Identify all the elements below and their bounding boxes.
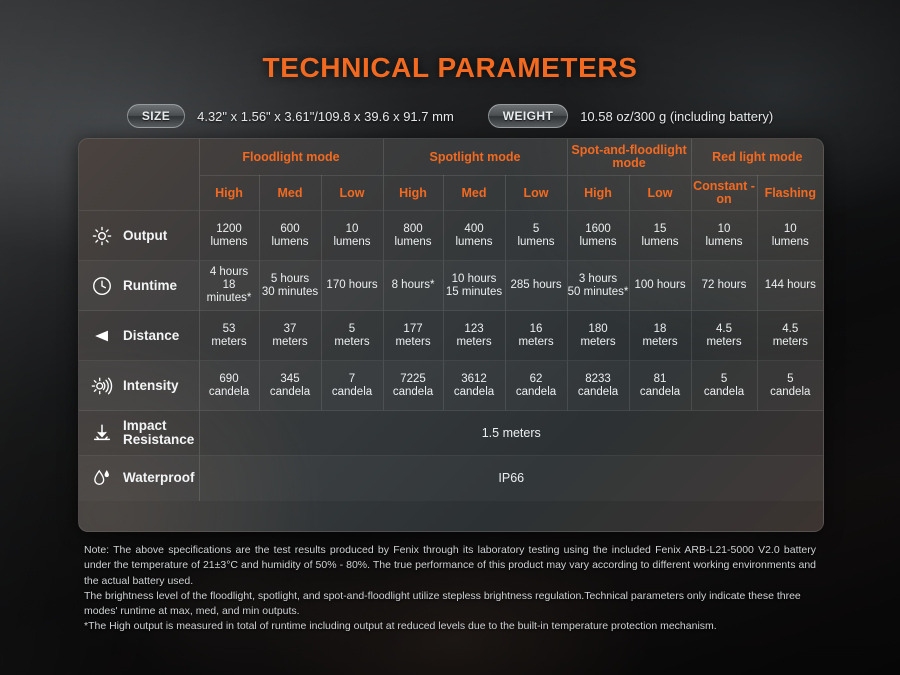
- cell-output-8: 10lumens: [691, 211, 757, 261]
- page-title: TECHNICAL PARAMETERS: [0, 52, 900, 84]
- cell-value: 690: [200, 373, 259, 386]
- row-label-output: Output: [79, 211, 199, 261]
- cell-runtime-6: 3 hours50 minutes*: [567, 261, 629, 311]
- cell-value: 16: [506, 323, 567, 336]
- cell-unit: meters: [444, 336, 505, 349]
- beam-icon: [89, 323, 115, 349]
- cell-value: 37: [260, 323, 321, 336]
- cell-intensity-3: 7225candela: [383, 361, 443, 411]
- parameters-table: Floodlight mode Spotlight mode Spot-and-…: [79, 139, 823, 501]
- cell-value: 177: [384, 323, 443, 336]
- cell-runtime-8: 72 hours: [691, 261, 757, 311]
- row-label-impact-resistance: Impact Resistance: [79, 411, 199, 456]
- cell-intensity-0: 690candela: [199, 361, 259, 411]
- cell-output-0: 1200lumens: [199, 211, 259, 261]
- cell-value: 345: [260, 373, 321, 386]
- table-body: Output 1200lumens 600lumens 10lumens 800…: [79, 211, 823, 501]
- cell-unit: meters: [200, 336, 259, 349]
- value-waterproof: IP66: [199, 456, 823, 501]
- cell-output-6: 1600lumens: [567, 211, 629, 261]
- cell-value: 72 hours: [692, 279, 757, 292]
- cell-unit: candela: [444, 386, 505, 399]
- cell-intensity-4: 3612candela: [443, 361, 505, 411]
- cell-value: 53: [200, 323, 259, 336]
- header-corner-cell: [79, 139, 199, 176]
- cell-output-1: 600lumens: [259, 211, 321, 261]
- cell-unit: 15 minutes: [444, 286, 505, 299]
- cell-value: 8233: [568, 373, 629, 386]
- waterdrop-icon: [89, 465, 115, 491]
- row-label-output-text: Output: [123, 229, 167, 243]
- cell-intensity-7: 81candela: [629, 361, 691, 411]
- cell-runtime-1: 5 hours30 minutes: [259, 261, 321, 311]
- cell-output-3: 800lumens: [383, 211, 443, 261]
- cell-unit: meters: [758, 336, 824, 349]
- mode-group-spot-and-floodlight: Spot-and-floodlight mode: [567, 139, 691, 176]
- impact-label-line1: Impact: [123, 419, 194, 433]
- cell-value: 5: [692, 373, 757, 386]
- cell-value: 285 hours: [506, 279, 567, 292]
- level-red-flashing: Flashing: [757, 176, 823, 211]
- size-badge: SIZE: [127, 104, 185, 128]
- footnote-line-3: *The High output is measured in total of…: [84, 619, 816, 634]
- cell-unit: lumens: [260, 236, 321, 249]
- cell-distance-1: 37meters: [259, 311, 321, 361]
- technical-parameters-table-panel: Floodlight mode Spotlight mode Spot-and-…: [78, 138, 824, 532]
- impact-label-line2: Resistance: [123, 433, 194, 447]
- cell-intensity-5: 62candela: [505, 361, 567, 411]
- cell-unit: lumens: [758, 236, 824, 249]
- cell-value: 4.5: [758, 323, 824, 336]
- cell-runtime-7: 100 hours: [629, 261, 691, 311]
- cell-intensity-9: 5candela: [757, 361, 823, 411]
- cell-value: 170 hours: [322, 279, 383, 292]
- weight-value: 10.58 oz/300 g (including battery): [580, 109, 773, 124]
- cell-unit: meters: [322, 336, 383, 349]
- cell-runtime-3: 8 hours*: [383, 261, 443, 311]
- cell-unit: candela: [384, 386, 443, 399]
- cell-value: 8 hours*: [384, 279, 443, 292]
- cell-output-5: 5lumens: [505, 211, 567, 261]
- mode-group-floodlight: Floodlight mode: [199, 139, 383, 176]
- cell-unit: meters: [384, 336, 443, 349]
- cell-unit: 50 minutes*: [568, 286, 629, 299]
- cell-value: 5: [322, 323, 383, 336]
- footnote-line-2: The brightness level of the floodlight, …: [84, 589, 816, 620]
- cell-value: 15: [630, 223, 691, 236]
- table-row-runtime: Runtime 4 hours18 minutes* 5 hours30 min…: [79, 261, 823, 311]
- cell-distance-7: 18meters: [629, 311, 691, 361]
- cell-unit: lumens: [200, 236, 259, 249]
- level-red-constant-on: Constant -on: [691, 176, 757, 211]
- level-flood-high: High: [199, 176, 259, 211]
- cell-unit: lumens: [506, 236, 567, 249]
- cell-unit: lumens: [322, 236, 383, 249]
- sun-icon: [89, 223, 115, 249]
- cell-output-9: 10lumens: [757, 211, 823, 261]
- cell-value: 5: [758, 373, 824, 386]
- level-spot-high: High: [383, 176, 443, 211]
- intensity-icon: [89, 373, 115, 399]
- cell-unit: meters: [692, 336, 757, 349]
- cell-intensity-2: 7candela: [321, 361, 383, 411]
- size-value: 4.32" x 1.56" x 3.61"/109.8 x 39.6 x 91.…: [197, 109, 454, 124]
- cell-unit: candela: [506, 386, 567, 399]
- cell-runtime-0: 4 hours18 minutes*: [199, 261, 259, 311]
- footnotes: Note: The above specifications are the t…: [84, 543, 816, 635]
- cell-intensity-8: 5candela: [691, 361, 757, 411]
- cell-value: 144 hours: [758, 279, 824, 292]
- footnote-line-1: Note: The above specifications are the t…: [84, 543, 816, 589]
- clock-icon: [89, 273, 115, 299]
- size-weight-strip: SIZE 4.32" x 1.56" x 3.61"/109.8 x 39.6 …: [0, 103, 900, 129]
- cell-value: 81: [630, 373, 691, 386]
- cell-value: 5 hours: [260, 273, 321, 286]
- row-label-distance-text: Distance: [123, 329, 179, 343]
- cell-distance-9: 4.5meters: [757, 311, 823, 361]
- cell-runtime-4: 10 hours15 minutes: [443, 261, 505, 311]
- table-row-distance: Distance 53meters 37meters 5meters 177me…: [79, 311, 823, 361]
- row-label-runtime: Runtime: [79, 261, 199, 311]
- cell-unit: meters: [260, 336, 321, 349]
- cell-unit: meters: [630, 336, 691, 349]
- cell-unit: candela: [692, 386, 757, 399]
- cell-value: 10: [692, 223, 757, 236]
- table-row-output: Output 1200lumens 600lumens 10lumens 800…: [79, 211, 823, 261]
- mode-group-red-light: Red light mode: [691, 139, 823, 176]
- cell-unit: meters: [568, 336, 629, 349]
- cell-distance-6: 180meters: [567, 311, 629, 361]
- cell-value: 800: [384, 223, 443, 236]
- cell-distance-0: 53meters: [199, 311, 259, 361]
- cell-distance-3: 177meters: [383, 311, 443, 361]
- cell-unit: lumens: [384, 236, 443, 249]
- cell-value: 4 hours: [200, 266, 259, 279]
- impact-icon: [89, 420, 115, 446]
- level-flood-med: Med: [259, 176, 321, 211]
- row-label-intensity-text: Intensity: [123, 379, 179, 393]
- cell-unit: candela: [200, 386, 259, 399]
- cell-distance-5: 16meters: [505, 311, 567, 361]
- cell-value: 4.5: [692, 323, 757, 336]
- table-row-intensity: Intensity 690candela 345candela 7candela…: [79, 361, 823, 411]
- cell-value: 62: [506, 373, 567, 386]
- level-flood-low: Low: [321, 176, 383, 211]
- cell-unit: lumens: [692, 236, 757, 249]
- cell-unit: candela: [260, 386, 321, 399]
- value-impact-resistance: 1.5 meters: [199, 411, 823, 456]
- cell-value: 18: [630, 323, 691, 336]
- mode-group-spotlight: Spotlight mode: [383, 139, 567, 176]
- level-spot-med: Med: [443, 176, 505, 211]
- row-label-impact-text: Impact Resistance: [123, 419, 194, 447]
- cell-value: 1200: [200, 223, 259, 236]
- row-label-distance: Distance: [79, 311, 199, 361]
- cell-output-4: 400lumens: [443, 211, 505, 261]
- cell-unit: lumens: [568, 236, 629, 249]
- cell-value: 3 hours: [568, 273, 629, 286]
- cell-value: 400: [444, 223, 505, 236]
- cell-value: 7225: [384, 373, 443, 386]
- cell-unit: 30 minutes: [260, 286, 321, 299]
- cell-unit: candela: [630, 386, 691, 399]
- table-row-impact-resistance: Impact Resistance 1.5 meters: [79, 411, 823, 456]
- row-label-waterproof: Waterproof: [79, 456, 199, 501]
- cell-unit: candela: [322, 386, 383, 399]
- mode-group-header-row: Floodlight mode Spotlight mode Spot-and-…: [79, 139, 823, 176]
- level-combo-low: Low: [629, 176, 691, 211]
- cell-runtime-2: 170 hours: [321, 261, 383, 311]
- cell-value: 600: [260, 223, 321, 236]
- cell-unit: meters: [506, 336, 567, 349]
- cell-intensity-6: 8233candela: [567, 361, 629, 411]
- cell-unit: 18 minutes*: [200, 279, 259, 305]
- cell-value: 5: [506, 223, 567, 236]
- cell-intensity-1: 345candela: [259, 361, 321, 411]
- row-label-runtime-text: Runtime: [123, 279, 177, 293]
- cell-value: 10: [758, 223, 824, 236]
- cell-unit: candela: [568, 386, 629, 399]
- cell-value: 100 hours: [630, 279, 691, 292]
- level-header-row: High Med Low High Med Low High Low Const…: [79, 176, 823, 211]
- cell-unit: lumens: [630, 236, 691, 249]
- cell-distance-4: 123meters: [443, 311, 505, 361]
- cell-value: 123: [444, 323, 505, 336]
- level-header-corner-cell: [79, 176, 199, 211]
- level-spot-low: Low: [505, 176, 567, 211]
- level-combo-high: High: [567, 176, 629, 211]
- cell-unit: lumens: [444, 236, 505, 249]
- cell-runtime-5: 285 hours: [505, 261, 567, 311]
- table-row-waterproof: Waterproof IP66: [79, 456, 823, 501]
- row-label-waterproof-text: Waterproof: [123, 471, 195, 485]
- cell-runtime-9: 144 hours: [757, 261, 823, 311]
- cell-distance-8: 4.5meters: [691, 311, 757, 361]
- row-label-intensity: Intensity: [79, 361, 199, 411]
- cell-unit: candela: [758, 386, 824, 399]
- cell-distance-2: 5meters: [321, 311, 383, 361]
- cell-value: 3612: [444, 373, 505, 386]
- cell-value: 10 hours: [444, 273, 505, 286]
- cell-output-2: 10lumens: [321, 211, 383, 261]
- cell-value: 10: [322, 223, 383, 236]
- weight-badge: WEIGHT: [488, 104, 568, 128]
- cell-value: 7: [322, 373, 383, 386]
- table-head: Floodlight mode Spotlight mode Spot-and-…: [79, 139, 823, 211]
- cell-output-7: 15lumens: [629, 211, 691, 261]
- cell-value: 180: [568, 323, 629, 336]
- cell-value: 1600: [568, 223, 629, 236]
